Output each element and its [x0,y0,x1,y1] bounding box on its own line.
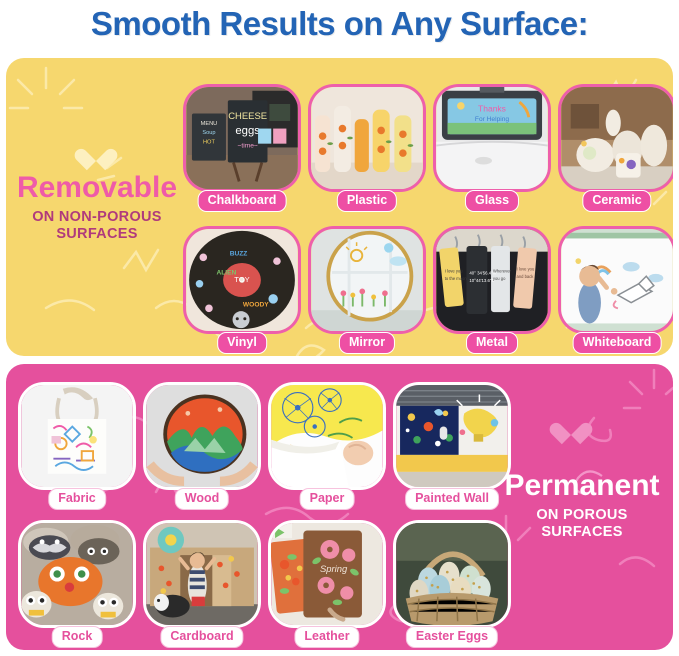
tile-label: Leather [294,626,359,648]
section-permanent: Permanent ON POROUS SURFACES [6,364,673,650]
svg-text:For Helping: For Helping [475,116,509,123]
tile-vinyl[interactable]: TOY BUZZ ALIEN WOODY Vinyl [183,226,301,356]
section-subtitle-line2: SURFACES [487,524,673,541]
painted-wall-image [393,382,511,490]
plastic-image [308,84,426,192]
mirror-image [308,226,426,334]
ceramic-image [558,84,673,192]
tile-fabric[interactable]: Fabric [18,382,136,512]
section-heading-removable: Removable ON NON-POROUS SURFACES [6,172,192,243]
svg-text:Thanks: Thanks [478,104,506,114]
section-subtitle-line2: SURFACES [6,226,192,243]
tile-easter-eggs[interactable]: Easter Eggs [393,520,511,650]
tile-painted-wall[interactable]: Painted Wall [393,382,511,512]
tile-label: Cardboard [160,626,243,648]
tile-label: Paper [300,488,355,510]
tile-chalkboard[interactable]: CHEESE eggs ~time~ MENU Soup HOT Chalkbo… [183,84,301,214]
svg-text:Spring: Spring [320,564,348,575]
svg-text:to the moon: to the moon [445,276,468,281]
tile-leather[interactable]: Spring Leather [268,520,386,650]
cardboard-image [143,520,261,628]
svg-text:Soup: Soup [202,130,215,136]
svg-text:and back: and back [517,274,535,279]
tile-whiteboard[interactable]: Whiteboard [558,226,673,356]
svg-text:BUZZ: BUZZ [230,250,248,257]
paper-image [268,382,386,490]
tile-label: Metal [466,332,518,354]
section-heading-permanent: Permanent ON POROUS SURFACES [487,470,673,541]
svg-text:TOY: TOY [234,275,249,284]
svg-text:MENU: MENU [201,121,218,127]
svg-text:ALIEN: ALIEN [217,269,237,276]
heart-icon [558,414,584,438]
tile-rock[interactable]: Rock [18,520,136,650]
tile-glass[interactable]: Thanks For Helping Glass [433,84,551,214]
glass-image: Thanks For Helping [433,84,551,192]
leather-image: Spring [268,520,386,628]
section-title: Removable [6,172,192,204]
section-removable: Removable ON NON-POROUS SURFACES CHEESE … [6,58,673,356]
svg-text:Wherever: Wherever [493,268,512,273]
tile-paper[interactable]: Paper [268,382,386,512]
tile-label: Ceramic [582,190,651,212]
tile-plastic[interactable]: Plastic [308,84,426,214]
tile-label: Rock [52,626,103,648]
svg-text:~time~: ~time~ [238,142,258,149]
section-subtitle-line1: ON POROUS [487,507,673,524]
wood-image [143,382,261,490]
tile-label: Mirror [339,332,395,354]
metal-image: I love youto the moon 40° 34'56.4"N10°44… [433,226,551,334]
tile-cardboard[interactable]: Cardboard [143,520,261,650]
tile-label: Easter Eggs [406,626,498,648]
chalkboard-image: CHEESE eggs ~time~ MENU Soup HOT [183,84,301,192]
tile-metal[interactable]: I love youto the moon 40° 34'56.4"N10°44… [433,226,551,356]
tile-ceramic[interactable]: Ceramic [558,84,673,214]
whiteboard-image [558,226,673,334]
rock-image [18,520,136,628]
vinyl-image: TOY BUZZ ALIEN WOODY [183,226,301,334]
tile-label: Wood [175,488,229,510]
svg-text:CHEESE: CHEESE [228,111,267,122]
heart-icon [83,140,109,164]
fabric-image [18,382,136,490]
svg-text:eggs: eggs [235,125,260,137]
svg-text:I love you: I love you [445,268,463,273]
svg-text:I love you: I love you [517,267,535,272]
svg-text:HOT: HOT [203,140,215,146]
tile-mirror[interactable]: Mirror [308,226,426,356]
page-title: Smooth Results on Any Surface: [0,2,679,46]
section-subtitle-line1: ON NON-POROUS [6,209,192,226]
tile-label: Vinyl [217,332,267,354]
tile-wood[interactable]: Wood [143,382,261,512]
svg-text:WOODY: WOODY [243,301,269,308]
tile-label: Plastic [337,190,397,212]
section-title: Permanent [487,470,673,502]
tile-label: Whiteboard [573,332,662,354]
easter-eggs-image [393,520,511,628]
tile-label: Painted Wall [405,488,499,510]
tile-label: Glass [465,190,519,212]
svg-text:you go: you go [493,276,506,281]
svg-text:10°44'13.6"E: 10°44'13.6"E [469,278,494,283]
tile-label: Fabric [48,488,106,510]
tile-label: Chalkboard [198,190,287,212]
svg-text:40° 34'56.4"N: 40° 34'56.4"N [469,270,495,275]
